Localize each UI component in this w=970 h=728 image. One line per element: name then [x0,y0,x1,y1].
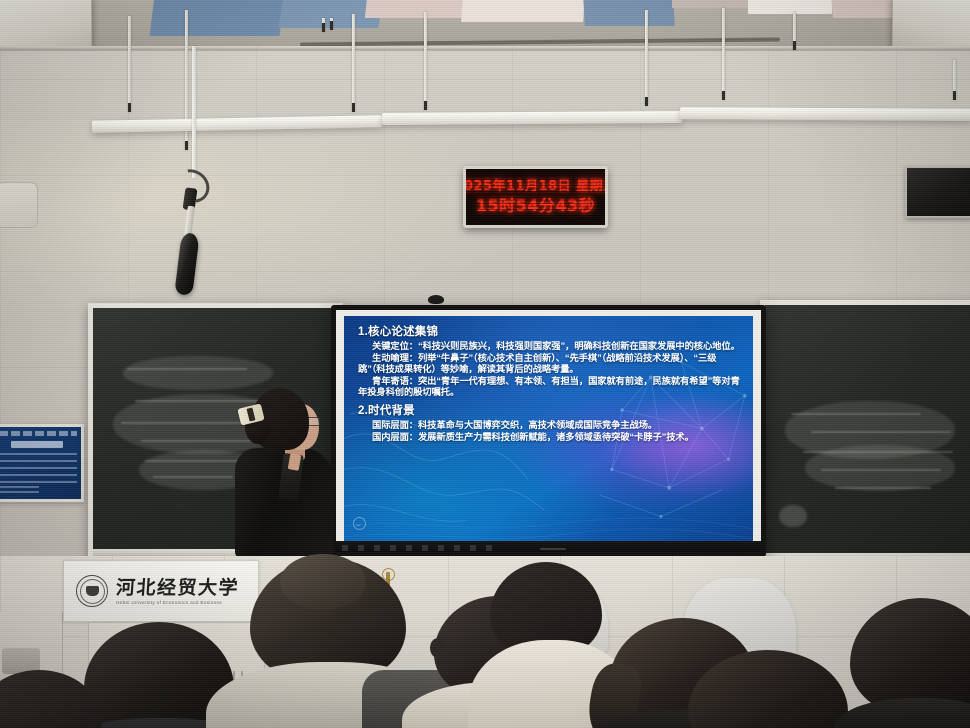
ceiling [0,0,970,46]
classroom-photo: 2025年11月18日 星期二 15时54分43秒 [0,0,970,728]
student-head [0,670,102,728]
screen-power-led [540,548,566,550]
chalk-stroke [145,460,241,462]
university-name-cn: 河北经贸大学 [115,578,239,598]
chalk-smudge [123,356,273,390]
ceiling-panel [461,0,585,22]
chalk-stroke [821,469,941,471]
projection-screen: 1.核心论述集锦 关键定位：“科技兴则民族兴，科技强则国家强”，明确科技创新在国… [331,305,766,557]
slide-paragraph-2: 生动喻理：列举“牛鼻子”（核心技术自主创新）、“先手棋”（战略前沿技术发展）、“… [358,353,741,376]
screen-bottom-bezel [336,541,761,552]
ceiling-conduit [300,37,780,46]
student-shoulders [834,698,970,728]
student-hair-bun [280,554,366,610]
chalk-stroke [803,451,953,453]
list-item [844,598,970,728]
led-clock-display: 2025年11月18日 星期二 15时54分43秒 [463,166,608,228]
wall-trim-rail [0,48,970,51]
presenter-standing [229,388,337,558]
ceiling-panel [672,0,750,8]
slide-watermark-icon [353,517,366,530]
university-name-block: 河北经贸大学 Hebei University of Economics and… [116,578,239,605]
university-name-en: Hebei University of Economics and Busine… [116,600,239,605]
led-clock-time: 15时54分43秒 [476,196,595,215]
slide-paragraph-1: 关键定位：“科技兴则民族兴，科技强则国家强”，明确科技创新在国家发展中的核心地位… [358,341,741,353]
ceiling-hanger-rod [722,8,725,100]
ceiling-hanger-rod [128,16,131,112]
wall-notice-poster [0,424,84,502]
ceiling-hanger-rod [352,14,355,112]
screen-surface: 1.核心论述集锦 关键定位：“科技兴则民族兴，科技强则国家强”，明确科技创新在国… [336,310,761,552]
chalk-stroke [127,368,247,370]
ceiling-panel [365,0,467,18]
led-clock-date: 2025年11月18日 星期二 [463,179,608,194]
chalk-eraser-mark [779,505,807,527]
slide-heading-2: 2.时代背景 [358,404,741,419]
slide-paragraph-5: 国内层面：发展新质生产力需科技创新赋能，诸多领域亟待突破“卡脖子”技术。 [358,432,741,444]
screen-mount-bracket [428,295,444,304]
blackboard-right [760,300,970,565]
presentation-slide: 1.核心论述集锦 关键定位：“科技兴则民族兴，科技强则国家强”，明确科技创新在国… [344,316,753,546]
ceiling-panel [583,0,675,26]
ceiling-speaker-right [892,0,970,46]
slide-text-block: 1.核心论述集锦 关键定位：“科技兴则民族兴，科技强则国家强”，明确科技创新在国… [358,325,741,443]
chalk-stroke [835,487,931,489]
slide-paragraph-4: 国际层面：科技革命与大国博弈交织，高技术领域成国际竞争主战场。 [358,420,741,432]
ceiling-panel [150,0,285,36]
hair-tie-icon [430,638,446,658]
ceiling-hanger-rod [330,18,333,30]
student-head [688,650,848,728]
slide-heading-1: 1.核心论述集锦 [358,325,741,340]
ceiling-light-fixture [382,111,682,125]
seal-emblem [86,586,99,596]
university-sign: 河北经贸大学 Hebei University of Economics and… [63,560,259,622]
ceiling-hanger-rod [953,60,956,100]
ceiling-speaker-left [0,0,92,46]
ceiling-hanger-rod [793,12,796,50]
list-item [672,650,862,728]
screen-bezel-label [342,545,492,551]
ceiling-hanger-rod [424,12,427,110]
list-item [232,558,432,728]
chalk-stroke [811,431,951,433]
wall-display-panel [905,166,970,218]
microphone-cable [192,46,196,178]
ceiling-light-fixture [680,107,970,121]
slide-paragraph-3: 青年寄语：突出“青年一代有理想、有本领、有担当，国家就有前途，民族就有希望”等对… [358,376,741,399]
chalk-stroke [153,476,233,478]
ceiling-hanger-rod [322,18,325,32]
ceiling-panel [748,0,832,14]
wall-fixture-left [0,182,38,228]
chalk-stroke [791,413,921,415]
list-item [0,664,120,728]
university-seal-icon [76,575,108,607]
ceiling-hanger-rod [645,10,648,106]
